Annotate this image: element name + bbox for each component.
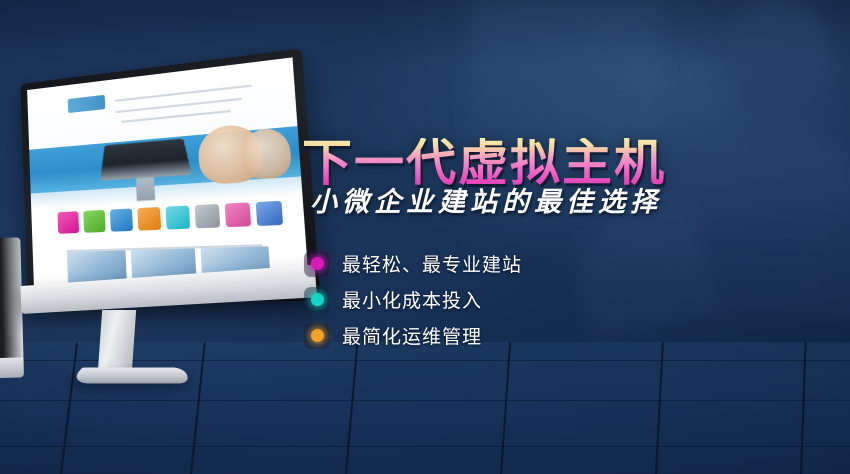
bullet-dot-magenta [304,251,330,277]
website-app-icon [194,204,220,228]
bullet-dot-glyph [311,329,324,342]
website-app-icon [110,209,133,232]
banner-content: 下一代虚拟主机 小微企业建站的最佳选择 最轻松、最专业建站 最小化成本投入 最简 [300,0,840,474]
website-app-icon [165,206,190,230]
bullet-dot-glyph [311,257,324,270]
feature-label: 最简化运维管理 [342,322,482,349]
feature-item: 最简化运维管理 [304,318,634,353]
hero-banner: 下一代虚拟主机 小微企业建站的最佳选择 最轻松、最专业建站 最小化成本投入 最简 [0,0,850,474]
website-hero-device-image [100,138,192,181]
desktop-monitor [8,82,298,392]
feature-list: 最轻松、最专业建站 最小化成本投入 最简化运维管理 [304,246,634,354]
website-app-icon [83,210,105,233]
bullet-dot-glyph [311,293,324,306]
monitor-screen [27,57,309,292]
feature-label: 最轻松、最专业建站 [342,250,522,277]
website-app-icon [58,211,80,234]
monitor-stand-foot [69,367,189,383]
bullet-dot-orange [304,323,330,349]
feature-label: 最小化成本投入 [342,286,482,313]
monitor-bezel [20,48,320,301]
monitor-stand-neck [98,310,136,372]
website-app-icon [255,201,283,226]
feature-item: 最小化成本投入 [304,282,634,317]
banner-subheadline: 小微企业建站的最佳选择 [310,180,662,219]
bullet-dot-cyan [304,287,330,313]
website-app-icon [224,203,251,228]
feature-item: 最轻松、最专业建站 [304,246,634,281]
website-app-icon [137,207,161,231]
